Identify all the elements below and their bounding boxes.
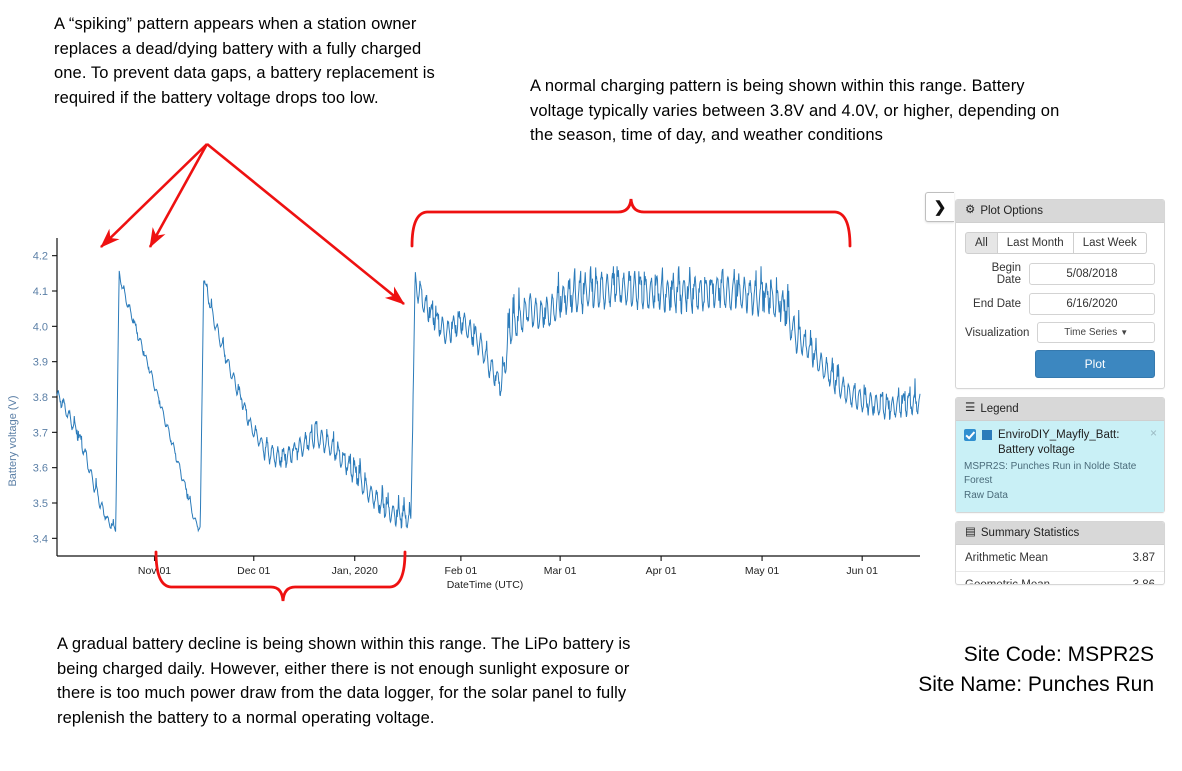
- legend-checkbox[interactable]: [964, 429, 976, 441]
- annotation-gradual-decline: A gradual battery decline is being shown…: [57, 632, 647, 730]
- range-button-last-week[interactable]: Last Week: [1074, 232, 1147, 254]
- site-info: Site Code: MSPR2S Site Name: Punches Run: [918, 640, 1154, 700]
- chevron-down-icon: ▼: [1120, 328, 1128, 337]
- begin-date-input[interactable]: 5/08/2018: [1029, 263, 1155, 285]
- svg-text:Mar 01: Mar 01: [544, 565, 577, 577]
- legend-item-battery-voltage[interactable]: × EnviroDIY_Mayfly_Batt: Battery voltage…: [956, 421, 1164, 512]
- list-icon: ☰: [965, 403, 975, 415]
- svg-text:3.8: 3.8: [33, 392, 48, 404]
- svg-text:Apr 01: Apr 01: [646, 565, 677, 577]
- stat-label: Geometric Mean: [965, 579, 1050, 585]
- stat-value: 3.87: [1133, 552, 1155, 564]
- annotation-normal-charging: A normal charging pattern is being shown…: [530, 74, 1070, 148]
- end-date-input[interactable]: 6/16/2020: [1029, 293, 1155, 315]
- svg-text:4.0: 4.0: [33, 321, 48, 333]
- stat-row-arithmetic-mean: Arithmetic Mean 3.87: [956, 545, 1164, 572]
- svg-text:May 01: May 01: [745, 565, 780, 577]
- legend-panel: ☰ Legend × EnviroDIY_Mayfly_Batt: Batter…: [955, 397, 1165, 513]
- remove-series-icon[interactable]: ×: [1150, 426, 1157, 440]
- legend-series-processing-level: Raw Data: [964, 489, 1156, 503]
- plot-options-title: Plot Options: [980, 205, 1043, 217]
- gear-icon: ⚙: [965, 205, 975, 217]
- visualization-value: Time Series: [1064, 327, 1117, 338]
- visualization-row: Visualization Time Series▼: [965, 322, 1155, 343]
- chart-side-panel: ⚙ Plot Options All Last Month Last Week …: [955, 199, 1165, 593]
- svg-text:Dec 01: Dec 01: [237, 565, 270, 577]
- y-axis-ticks: 3.43.53.63.73.83.94.04.14.2: [33, 251, 57, 546]
- svg-text:3.9: 3.9: [33, 357, 48, 369]
- svg-text:Jun 01: Jun 01: [846, 565, 878, 577]
- series-line-battery-voltage: [57, 266, 920, 531]
- plot-options-header: ⚙ Plot Options: [956, 200, 1164, 223]
- panel-collapse-toggle[interactable]: ❯: [925, 192, 954, 222]
- legend-series-site: MSPR2S: Punches Run in Nolde State Fores…: [964, 460, 1156, 487]
- begin-date-label: Begin Date: [965, 262, 1029, 286]
- end-date-row: End Date 6/16/2020: [965, 293, 1155, 315]
- plot-button[interactable]: Plot: [1035, 350, 1155, 378]
- visualization-label: Visualization: [965, 327, 1037, 339]
- y-axis-title: Battery voltage (V): [7, 395, 19, 486]
- site-code: Site Code: MSPR2S: [918, 640, 1154, 670]
- legend-series-title: EnviroDIY_Mayfly_Batt: Battery voltage: [998, 428, 1156, 458]
- range-button-last-month[interactable]: Last Month: [998, 232, 1074, 254]
- date-range-button-group: All Last Month Last Week: [965, 232, 1155, 254]
- plot-options-panel: ⚙ Plot Options All Last Month Last Week …: [955, 199, 1165, 389]
- svg-text:4.1: 4.1: [33, 286, 48, 298]
- stat-value: 3.86: [1133, 579, 1155, 585]
- summary-statistics-header: ▤ Summary Statistics: [956, 522, 1164, 545]
- svg-text:Nov 01: Nov 01: [138, 565, 171, 577]
- visualization-select[interactable]: Time Series▼: [1037, 322, 1155, 343]
- x-axis-ticks: Nov 01Dec 01Jan, 2020Feb 01Mar 01Apr 01M…: [138, 556, 878, 577]
- svg-text:3.4: 3.4: [33, 533, 48, 545]
- begin-date-row: Begin Date 5/08/2018: [965, 262, 1155, 286]
- svg-text:3.7: 3.7: [33, 427, 48, 439]
- stat-label: Arithmetic Mean: [965, 552, 1048, 564]
- stat-row-geometric-mean: Geometric Mean 3.86: [956, 572, 1164, 585]
- time-series-chart[interactable]: 3.43.53.63.73.83.94.04.14.2 Nov 01Dec 01…: [0, 196, 940, 596]
- svg-text:3.6: 3.6: [33, 463, 48, 475]
- chevron-right-icon: ❯: [934, 198, 947, 216]
- svg-text:4.2: 4.2: [33, 251, 48, 263]
- range-button-all[interactable]: All: [965, 232, 998, 254]
- legend-header: ☰ Legend: [956, 398, 1164, 421]
- svg-text:Feb 01: Feb 01: [445, 565, 478, 577]
- end-date-label: End Date: [965, 298, 1029, 310]
- x-axis-title: DateTime (UTC): [447, 579, 524, 591]
- summary-statistics-title: Summary Statistics: [981, 527, 1079, 539]
- svg-text:Jan, 2020: Jan, 2020: [332, 565, 378, 577]
- summary-statistics-panel: ▤ Summary Statistics Arithmetic Mean 3.8…: [955, 521, 1165, 585]
- annotation-spiking-pattern: A “spiking” pattern appears when a stati…: [54, 12, 454, 110]
- legend-title: Legend: [980, 403, 1018, 415]
- svg-text:3.5: 3.5: [33, 498, 48, 510]
- table-icon: ▤: [965, 527, 976, 539]
- site-name: Site Name: Punches Run: [918, 670, 1154, 700]
- legend-color-swatch: [982, 430, 992, 440]
- chart-svg: 3.43.53.63.73.83.94.04.14.2 Nov 01Dec 01…: [0, 196, 940, 596]
